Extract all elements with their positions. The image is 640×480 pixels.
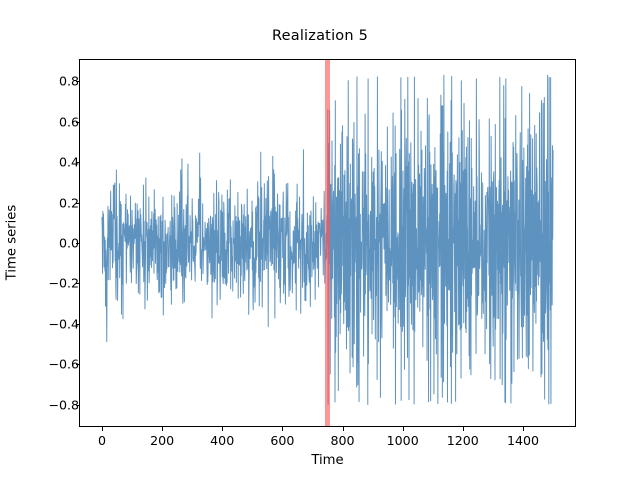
x-tick-mark: [282, 427, 283, 431]
chart-title: Realization 5: [0, 28, 640, 44]
x-tick-label: 0: [98, 433, 106, 448]
y-tick-label: 0.6: [17, 114, 79, 129]
x-tick-label: 600: [270, 433, 294, 448]
x-tick-label: 200: [150, 433, 174, 448]
x-tick-mark: [523, 427, 524, 431]
y-axis-label-container: Time series: [0, 59, 22, 427]
matplotlib-figure: Realization 5 −0.8−0.6−0.4−0.20.00.20.40…: [0, 0, 640, 480]
y-tick-label: 0.2: [17, 195, 79, 210]
y-tick-label: −0.6: [17, 357, 79, 372]
x-tick-mark: [222, 427, 223, 431]
x-tick-mark: [343, 427, 344, 431]
y-tick-label: −0.8: [17, 397, 79, 412]
x-tick-mark: [102, 427, 103, 431]
y-tick-label: −0.4: [17, 316, 79, 331]
time-series-plot-canvas: [80, 60, 575, 426]
x-tick-mark: [162, 427, 163, 431]
x-tick-mark: [463, 427, 464, 431]
x-tick-label: 400: [210, 433, 234, 448]
x-tick-mark: [403, 427, 404, 431]
y-tick-label: −0.2: [17, 276, 79, 291]
y-tick-label: 0.8: [17, 74, 79, 89]
x-tick-label: 800: [330, 433, 354, 448]
y-tick-label: 0.0: [17, 236, 79, 251]
x-axis-label: Time: [79, 453, 576, 468]
x-tick-label: 1000: [387, 433, 419, 448]
y-axis-label: Time series: [5, 73, 20, 413]
x-tick-label: 1400: [507, 433, 539, 448]
y-tick-label: 0.4: [17, 155, 79, 170]
x-tick-label: 1200: [447, 433, 479, 448]
